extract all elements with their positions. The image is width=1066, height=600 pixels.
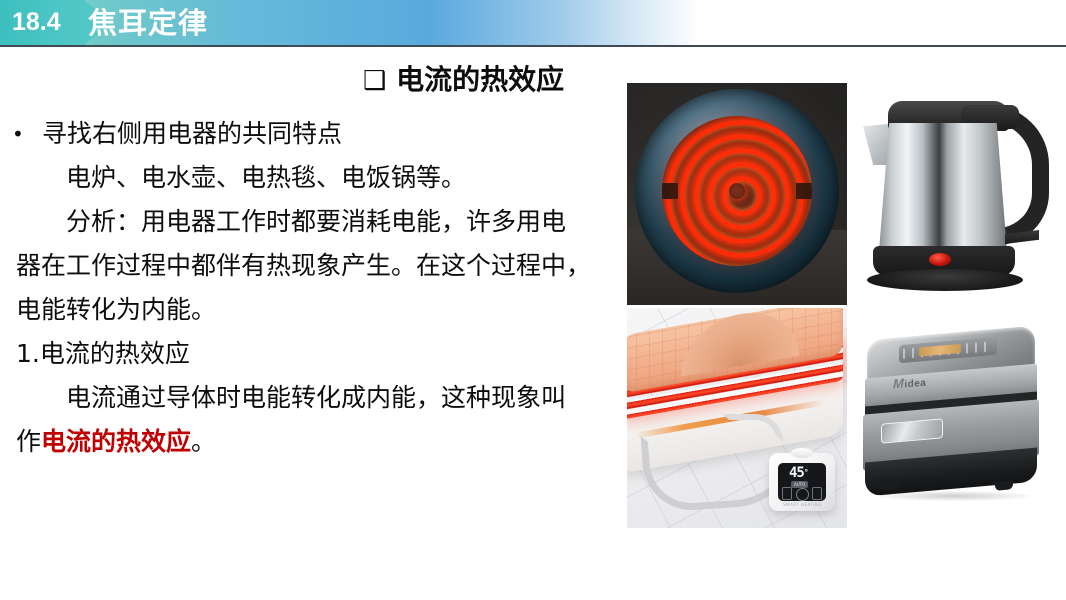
- section-title: 焦耳定律: [88, 3, 208, 43]
- body-text-column: •寻找右侧用电器的共同特点 电炉、电水壶、电热毯、电饭锅等。 分析：用电器工作时…: [8, 112, 620, 464]
- controller-brand: SMART HEATING: [783, 502, 822, 507]
- controller-temp-value: 45: [789, 465, 804, 481]
- controller-mode-label: AUTO: [791, 481, 808, 488]
- stove-coil-hub: [729, 183, 745, 199]
- header-divider: [0, 45, 1066, 47]
- body-line-5: 电能转化为内能。: [8, 288, 620, 332]
- photo-electric-kettle: [855, 83, 1055, 305]
- page-title-text: 电流的热效应: [396, 63, 564, 96]
- body-line-8: 作电流的热效应。: [8, 420, 620, 464]
- cooker-shadow: [877, 491, 1031, 501]
- body-line-8-prefix: 作: [16, 427, 41, 456]
- body-line-2: 电炉、电水壶、电热毯、电饭锅等。: [8, 156, 620, 200]
- controller-temperature: 45°: [789, 466, 808, 480]
- controller-dial[interactable]: [796, 488, 809, 501]
- photo-rice-cooker: Midea: [855, 323, 1055, 518]
- kettle-indicator-light: [929, 253, 951, 266]
- controller-cord-port: [791, 448, 813, 458]
- kettle-body: [879, 123, 1007, 251]
- body-line-1: 寻找右侧用电器的共同特点: [42, 119, 342, 148]
- controller-button-right[interactable]: [812, 487, 822, 500]
- cooker-brand-logo: Midea: [893, 374, 926, 392]
- blanket-controller[interactable]: 45° AUTO SMART HEATING: [769, 453, 835, 511]
- page-title: ❑ 电流的热效应: [363, 62, 564, 99]
- stove-outer-ring: [635, 89, 839, 293]
- photo-electric-stove: [627, 83, 847, 305]
- body-line-6: 1.电流的热效应: [8, 332, 620, 376]
- controller-button-left[interactable]: [782, 487, 792, 500]
- cooker-brand-text: idea: [904, 378, 926, 391]
- photo-electric-blanket: 45° AUTO SMART HEATING: [627, 308, 847, 528]
- cooker-foot-right: [995, 480, 1013, 491]
- controller-display: 45° AUTO: [778, 463, 826, 501]
- stove-coil-area: [662, 116, 812, 266]
- section-number: 18.4: [12, 6, 61, 39]
- body-line-bullet: •寻找右侧用电器的共同特点: [8, 112, 620, 156]
- header-band: 18.4 焦耳定律: [0, 0, 1066, 45]
- cooker-brand-mark: M: [893, 375, 904, 391]
- body-line-3: 分析：用电器工作时都要消耗电能，许多用电: [8, 200, 620, 244]
- cooker-display: [919, 344, 961, 357]
- square-bullet-icon: ❑: [363, 66, 386, 96]
- body-line-4: 器在工作过程中都伴有热现象产生。在这个过程中，: [8, 244, 620, 288]
- stove-coil-gap-right: [796, 183, 812, 199]
- body-line-8-suffix: 。: [191, 427, 216, 456]
- bullet-icon: •: [12, 112, 42, 156]
- degree-icon: °: [804, 468, 808, 477]
- highlighted-term: 电流的热效应: [41, 427, 191, 456]
- stove-coil-gap-left: [662, 183, 678, 199]
- kettle-power-base: [867, 269, 1023, 291]
- body-line-7: 电流通过导体时电能转化成内能，这种现象叫: [8, 376, 620, 420]
